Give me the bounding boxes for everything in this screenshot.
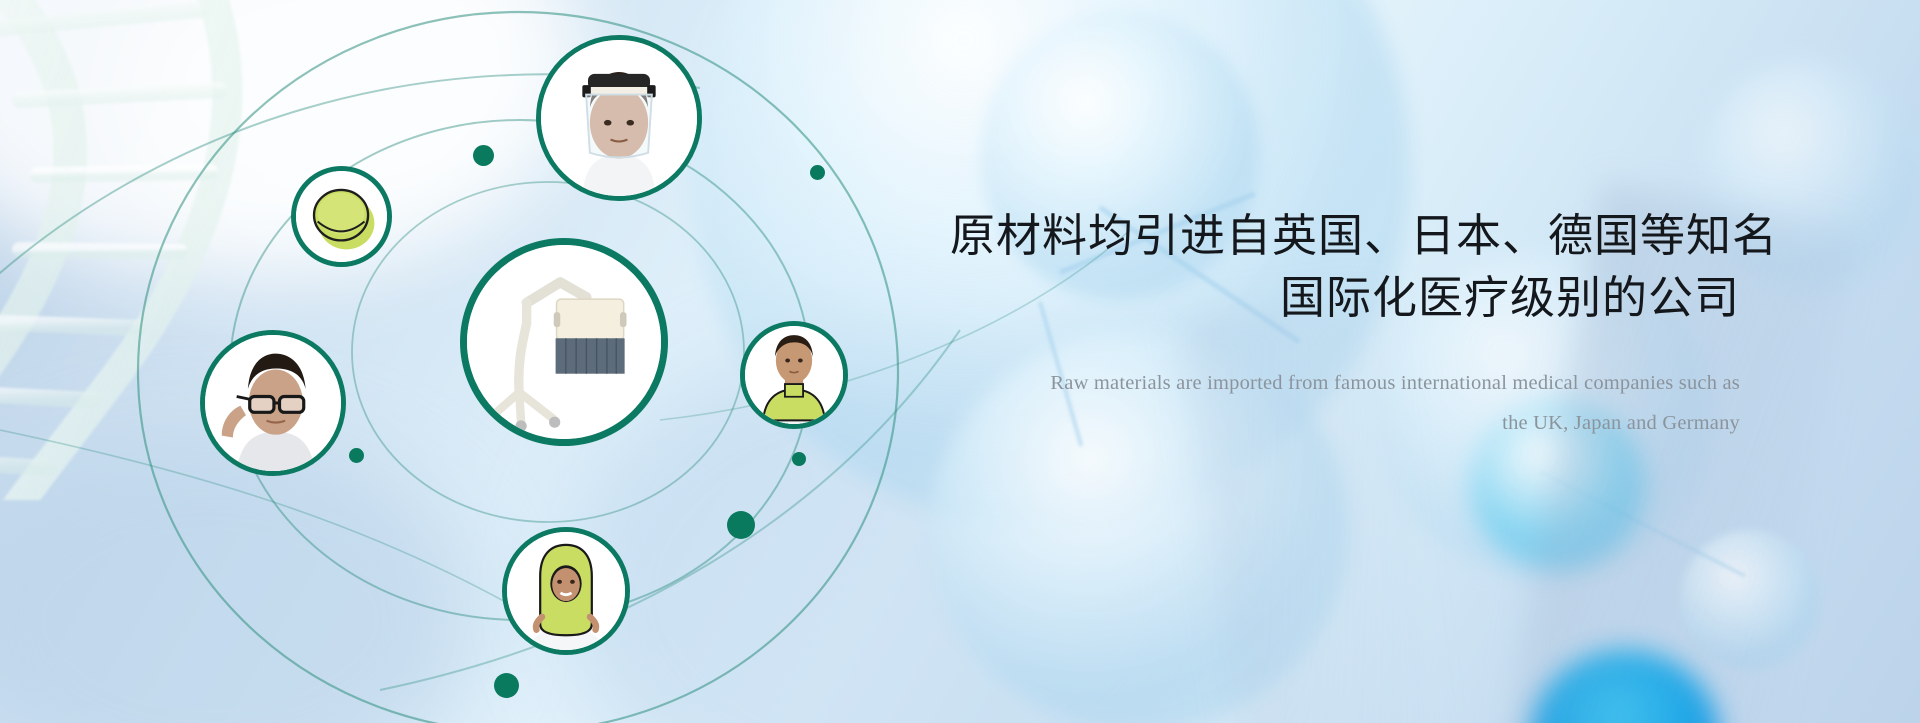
bubble-face-shield-man[interactable] <box>536 35 702 201</box>
bubble-protective-cap[interactable] <box>291 166 392 267</box>
protective-cap-illustration <box>296 171 387 262</box>
safety-glasses-man-illustration <box>205 335 341 471</box>
bubble-thyroid-collar-woman[interactable] <box>740 321 848 429</box>
orbit-dot-6 <box>494 673 519 698</box>
protective-hood-woman-illustration <box>507 532 625 650</box>
banner-copy: 原材料均引进自英国、日本、德国等知名 国际化医疗级别的公司 Raw materi… <box>950 205 1740 443</box>
headline-line-2: 国际化医疗级别的公司 <box>950 267 1740 329</box>
headline-line-1: 原材料均引进自英国、日本、德国等知名 <box>950 210 1778 261</box>
hero-banner: 原材料均引进自英国、日本、德国等知名 国际化医疗级别的公司 Raw materi… <box>0 0 1920 723</box>
subheadline-line-1: Raw materials are imported from famous i… <box>950 363 1740 403</box>
orbit-dot-2 <box>810 165 825 180</box>
face-shield-man-illustration <box>541 40 697 196</box>
bubble-mobile-xray-shield[interactable] <box>460 238 668 446</box>
orbit-dot-4 <box>792 452 806 466</box>
subheadline: Raw materials are imported from famous i… <box>950 363 1740 443</box>
headline: 原材料均引进自英国、日本、德国等知名 国际化医疗级别的公司 <box>950 205 1740 329</box>
orbit-dot-3 <box>349 448 364 463</box>
bubble-protective-hood-woman[interactable] <box>502 527 630 655</box>
orbit-dot-1 <box>473 145 494 166</box>
mobile-xray-shield-illustration <box>467 245 661 439</box>
subheadline-line-2: the UK, Japan and Germany <box>950 403 1740 443</box>
bubble-safety-glasses-man[interactable] <box>200 330 346 476</box>
orbit-dot-5 <box>727 511 755 539</box>
thyroid-collar-woman-illustration <box>745 326 843 424</box>
